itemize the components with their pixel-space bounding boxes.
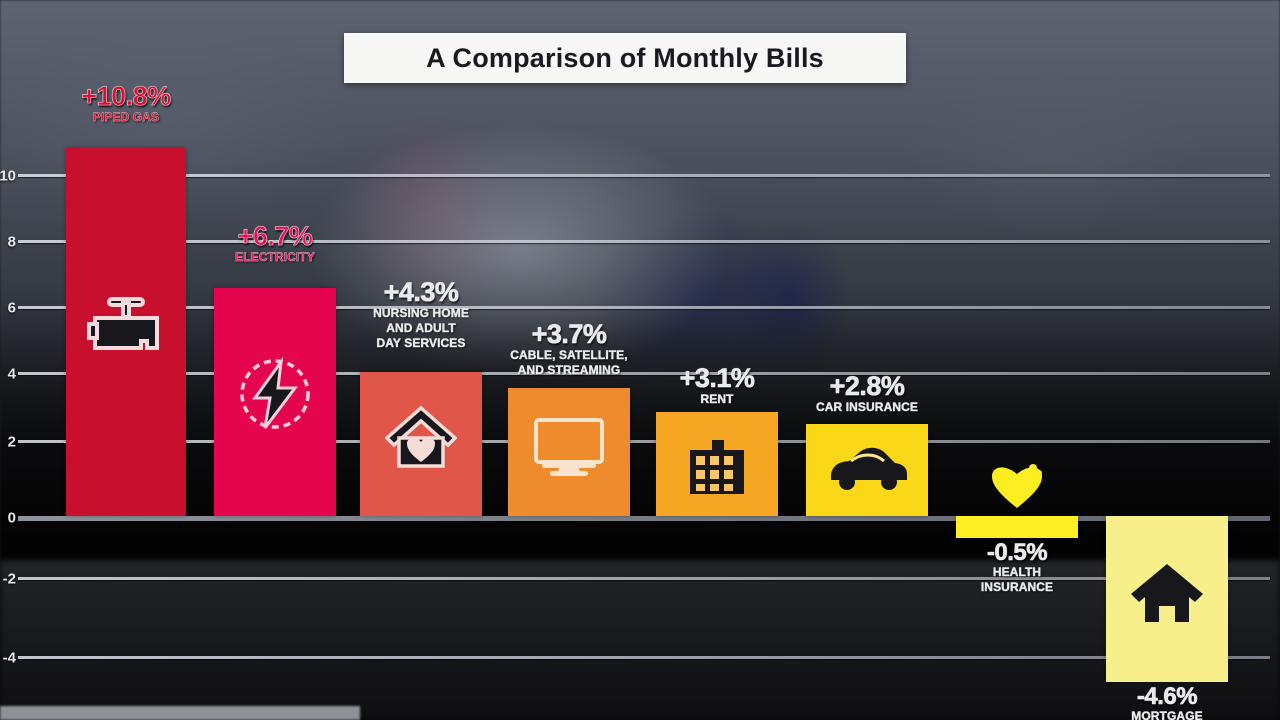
bar-car-insurance[interactable]: [806, 424, 928, 516]
chart-screenshot: 10 8 6 4 2 0 -2 -4 +10.8%: [0, 0, 1280, 720]
bar-label-nursing-home: +4.3% NURSING HOME AND ADULT DAY SERVICE…: [360, 278, 482, 350]
bar-category-label: AND STREAMING: [508, 363, 630, 378]
bar-value-label: +4.3%: [360, 278, 482, 306]
home-icon: [1129, 560, 1205, 626]
bar-cable-satellite-streaming[interactable]: [508, 388, 630, 516]
bar-category-label: PIPED GAS: [66, 110, 186, 125]
bar-value-label: +3.7%: [508, 320, 630, 348]
bar-label-car-insurance: +2.8% CAR INSURANCE: [806, 372, 928, 415]
bar-label-rent: +3.1% RENT: [656, 364, 778, 407]
bar-category-label: NURSING HOME: [360, 306, 482, 321]
bar-health-insurance[interactable]: [956, 516, 1078, 538]
page-title: A Comparison of Monthly Bills: [426, 43, 824, 74]
bar-category-label: CABLE, SATELLITE,: [508, 348, 630, 363]
bar-group-cable-satellite-streaming[interactable]: +3.7% CABLE, SATELLITE, AND STREAMING: [508, 0, 630, 720]
bar-group-piped-gas[interactable]: +10.8% PIPED GAS: [66, 0, 186, 720]
bar-label-health-insurance: -0.5% HEALTH INSURANCE: [956, 540, 1078, 594]
bar-group-electricity[interactable]: +6.7% ELECTRICITY: [214, 0, 336, 720]
house-heart-icon: [385, 402, 457, 472]
bar-nursing-home[interactable]: [360, 372, 482, 516]
bar-value-label: +3.1%: [656, 364, 778, 392]
bar-category-label: AND ADULT: [360, 321, 482, 336]
bar-electricity[interactable]: [214, 288, 336, 516]
bar-category-label: RENT: [656, 392, 778, 407]
bar-group-car-insurance[interactable]: +2.8% CAR INSURANCE: [806, 0, 928, 720]
bar-value-label: +2.8%: [806, 372, 928, 400]
bar-series: +10.8% PIPED GAS +6.7% ELECTRICITY: [0, 0, 1280, 720]
lightning-bolt-icon: [237, 356, 313, 432]
bar-value-label: +10.8%: [66, 82, 186, 110]
bar-group-health-insurance[interactable]: -0.5% HEALTH INSURANCE: [956, 0, 1078, 720]
car-icon: [825, 444, 909, 492]
chart-title-box: A Comparison of Monthly Bills: [344, 33, 906, 83]
bar-label-electricity: +6.7% ELECTRICITY: [214, 222, 336, 265]
bar-category-label: MORTGAGE INSURANCE: [1106, 709, 1228, 720]
bar-mortgage-insurance[interactable]: [1106, 516, 1228, 682]
bar-piped-gas[interactable]: [66, 148, 186, 516]
bar-rent[interactable]: [656, 412, 778, 516]
bar-value-label: +6.7%: [214, 222, 336, 250]
bar-category-label: DAY SERVICES: [360, 336, 482, 351]
bar-category-label: CAR INSURANCE: [806, 400, 928, 415]
bar-label-cable-satellite-streaming: +3.7% CABLE, SATELLITE, AND STREAMING: [508, 320, 630, 378]
gas-valve-icon: [87, 296, 165, 358]
bar-category-label: INSURANCE: [956, 580, 1078, 595]
bar-group-nursing-home[interactable]: +4.3% NURSING HOME AND ADULT DAY SERVICE…: [360, 0, 482, 720]
apartment-building-icon: [686, 434, 748, 496]
television-icon: [532, 416, 606, 480]
heart-icon: [990, 462, 1044, 510]
bar-group-mortgage-insurance[interactable]: -4.6% MORTGAGE INSURANCE: [1106, 0, 1228, 720]
bar-value-label: -0.5%: [956, 540, 1078, 565]
bar-category-label: ELECTRICITY: [214, 250, 336, 265]
bar-label-mortgage-insurance: -4.6% MORTGAGE INSURANCE: [1106, 684, 1228, 720]
bar-value-label: -4.6%: [1106, 684, 1228, 709]
bar-category-label: HEALTH: [956, 565, 1078, 580]
bar-group-rent[interactable]: +3.1% RENT: [656, 0, 778, 720]
bar-label-piped-gas: +10.8% PIPED GAS: [66, 82, 186, 125]
